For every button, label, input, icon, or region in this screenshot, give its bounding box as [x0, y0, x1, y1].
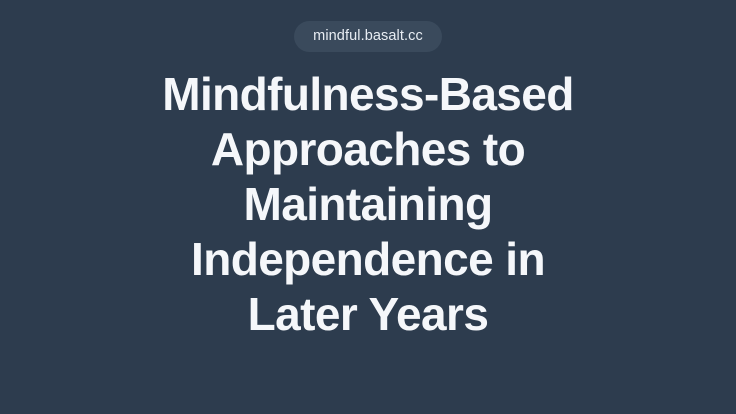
title-card: mindful.basalt.cc Mindfulness-Based Appr… [0, 0, 736, 414]
title-line: Mindfulness-Based [88, 67, 648, 122]
site-domain-badge: mindful.basalt.cc [294, 21, 442, 52]
title-line: Later Years [88, 287, 648, 342]
page-title: Mindfulness-Based Approaches to Maintain… [88, 67, 648, 342]
title-line: Maintaining [88, 177, 648, 232]
site-domain-label: mindful.basalt.cc [313, 29, 423, 44]
title-line: Approaches to [88, 122, 648, 177]
title-line: Independence in [88, 232, 648, 287]
